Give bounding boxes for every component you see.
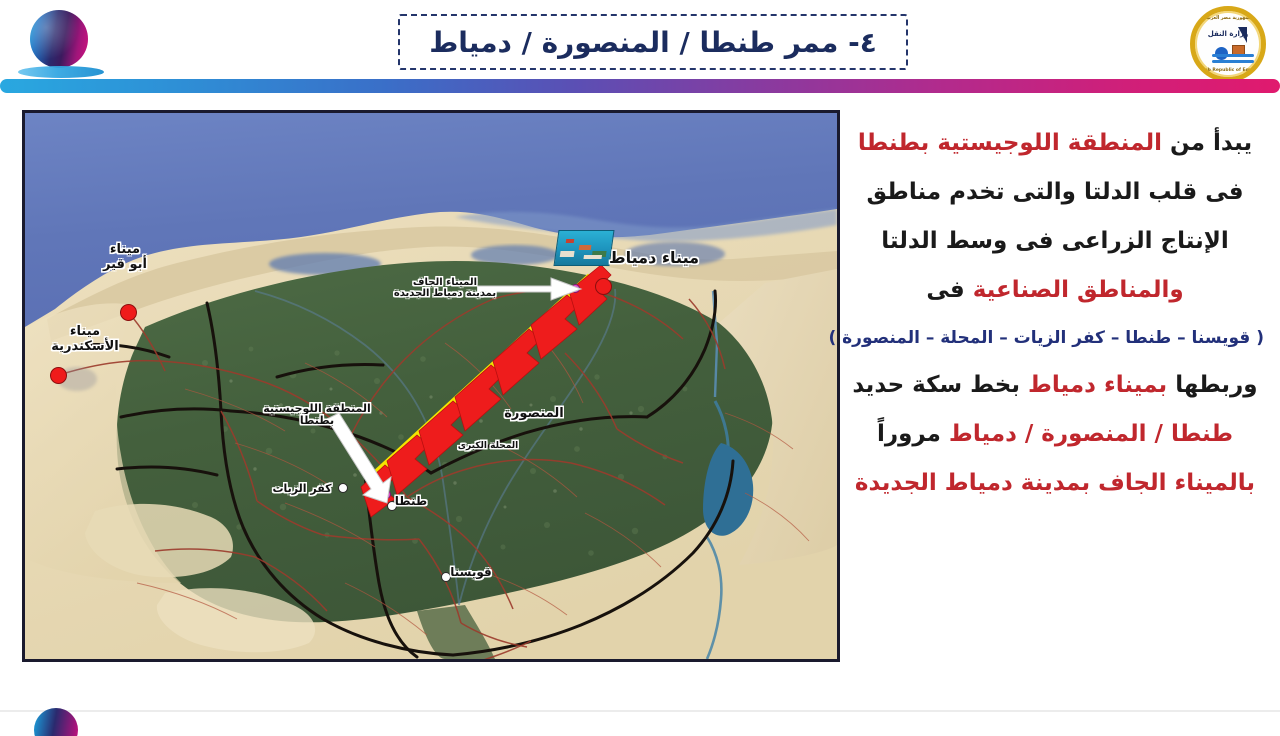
- description-line-3: الإنتاج الزراعى فى وسط الدلتا: [846, 230, 1264, 253]
- marker-abu-qir-port: [120, 304, 137, 321]
- slide-header: ٤- ممر طنطا / المنصورة / دمياط جمهورية م…: [0, 0, 1280, 92]
- emblem-ring-bottom-text: Arab Republic of Egypt: [1195, 68, 1261, 73]
- ministry-of-transport-emblem-icon: جمهورية مصر العربية وزارة النقل Arab Rep…: [1190, 6, 1266, 82]
- page-title: ٤- ممر طنطا / المنصورة / دمياط: [429, 26, 877, 59]
- emblem-wave-icon-2: [1212, 60, 1254, 63]
- description-text-column: يبدأ من المنطقة اللوجيستية بطنطا فى قلب …: [846, 132, 1264, 495]
- description-line-7: طنطا / المنصورة / دمياط مروراً: [846, 423, 1264, 446]
- marker-tanta: [387, 501, 397, 511]
- emblem-ring-top-text: جمهورية مصر العربية: [1198, 15, 1257, 21]
- marker-alexandria-port: [50, 367, 67, 384]
- desc-7-seg-1: طنطا / المنصورة / دمياط: [941, 421, 1233, 447]
- sphere-icon: [30, 10, 88, 68]
- marker-dry-port-new-damietta: [571, 284, 580, 293]
- gradient-sphere-logo: [18, 8, 104, 86]
- description-line-1: يبدأ من المنطقة اللوجيستية بطنطا: [846, 132, 1264, 155]
- sphere-shadow-icon: [18, 66, 104, 78]
- footer-divider: [0, 710, 1280, 712]
- header-accent-bar: [0, 79, 1280, 93]
- footer-sphere-icon: [34, 708, 78, 736]
- emblem-wave-icon: [1212, 54, 1254, 57]
- description-line-4: والمناطق الصناعية فى: [846, 279, 1264, 302]
- desc-6-seg-3: بخط سكة حديد: [852, 372, 1028, 398]
- presentation-slide: ٤- ممر طنطا / المنصورة / دمياط جمهورية م…: [0, 0, 1280, 736]
- served-cities-list: ( قويسنا – طنطا – كفر الزيات – المحلة – …: [846, 328, 1264, 348]
- marker-kafr-el-zayat: [338, 483, 348, 493]
- damietta-port-photo-inset: [553, 230, 614, 266]
- marker-quwaysna: [441, 572, 451, 582]
- desc-1-seg-1: يبدأ من: [1162, 130, 1252, 156]
- marker-damietta-port: [595, 278, 612, 295]
- desc-6-seg-2: بميناء دمياط: [1028, 372, 1167, 398]
- desc-4-seg-2: فى: [926, 277, 964, 303]
- desc-6-seg-1: وربطها: [1167, 372, 1257, 398]
- slide-title-box: ٤- ممر طنطا / المنصورة / دمياط: [398, 14, 908, 70]
- desc-4-seg-1: والمناطق الصناعية: [965, 277, 1184, 303]
- description-line-6: وربطها بميناء دمياط بخط سكة حديد: [846, 374, 1264, 397]
- marker-tanta-logistics-zone: [382, 490, 391, 499]
- description-line-8: بالميناء الجاف بمدينة دمياط الجديدة: [846, 472, 1264, 495]
- emblem-center-text: وزارة النقل: [1195, 30, 1261, 38]
- map-graphic: [25, 113, 837, 659]
- desc-7-seg-2: مروراً: [877, 421, 941, 447]
- desc-1-seg-2: المنطقة اللوجيستية بطنطا: [858, 130, 1162, 156]
- description-line-2: فى قلب الدلتا والتى تخدم مناطق: [846, 181, 1264, 204]
- nile-delta-satellite-map: ميناء أبو قير ميناء الأسكندرية ميناء دمي…: [22, 110, 840, 662]
